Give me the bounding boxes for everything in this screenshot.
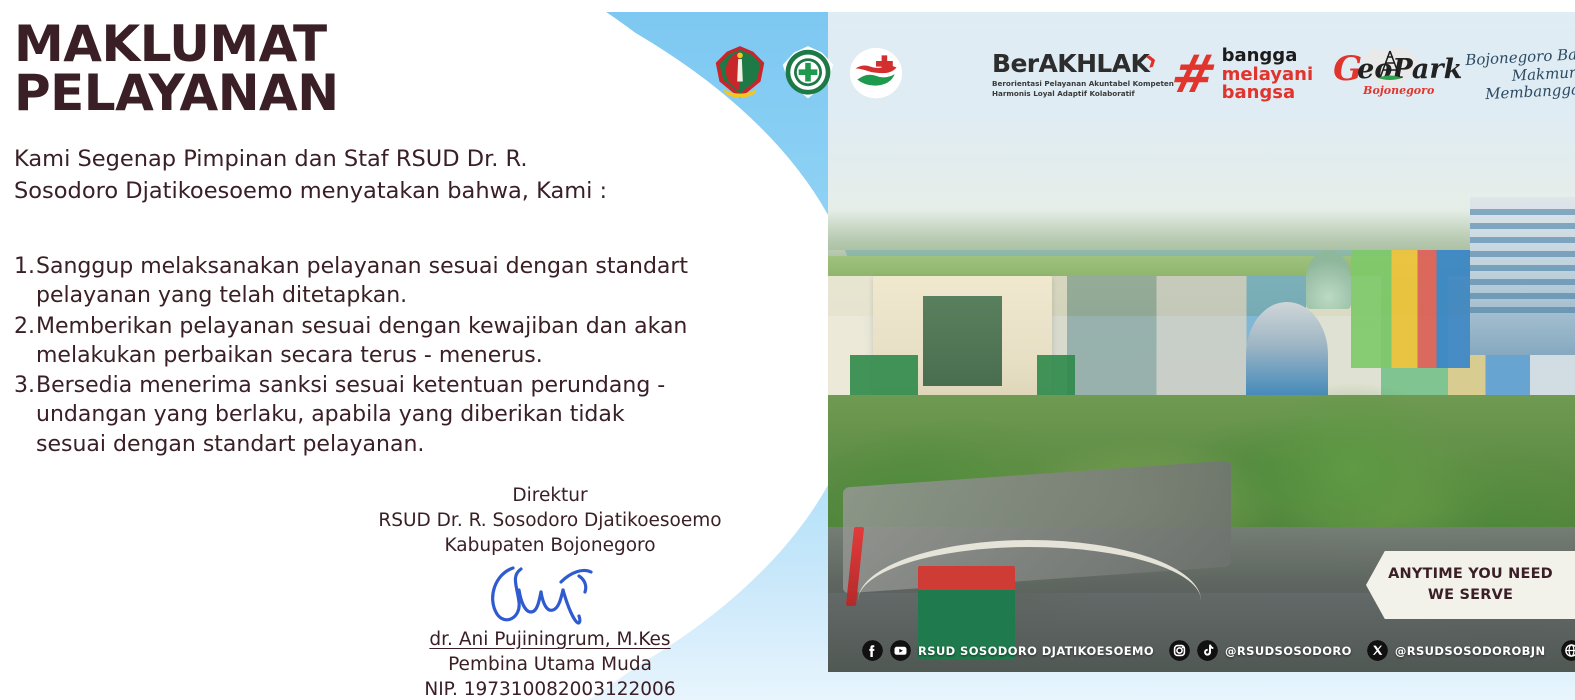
indonesia-health-seal-icon [848, 44, 904, 106]
pledge-list: 1. Sanggup melaksanakan pelayanan sesuai… [14, 252, 694, 460]
website-globe-icon[interactable] [1561, 640, 1575, 661]
social-media-bar: RSUD SOSODORO DJATIKOESOEMO @RSUDSOSODOR… [862, 640, 1575, 661]
banner-line-1: ANYTIME YOU NEED [1388, 564, 1553, 585]
oil-derrick-icon [1377, 50, 1403, 80]
title-line-2: PELAYANAN [14, 69, 484, 118]
list-item: 1. Sanggup melaksanakan pelayanan sesuai… [14, 252, 694, 311]
geopark-subtitle: Bojonegoro [1363, 84, 1434, 97]
left-content-panel: MAKLUMAT PELAYANAN Kami Segenap Pimpinan… [0, 0, 500, 700]
list-item-number: 1. [14, 252, 36, 281]
intro-paragraph: Kami Segenap Pimpinan dan Staf RSUD Dr. … [14, 144, 614, 208]
bangga-line-3: bangsa [1222, 84, 1314, 102]
berakhlak-logo: BerAKHLAK › Berorientasi Pelayanan Akunt… [992, 51, 1152, 99]
facebook-icon[interactable] [862, 640, 883, 661]
banner-line-2: WE SERVE [1428, 585, 1513, 606]
hospital-accreditation-seal-icon [780, 44, 836, 106]
hashtag-icon: # [1168, 55, 1220, 96]
page-title: MAKLUMAT PELAYANAN [14, 20, 484, 118]
bangga-melayani-bangsa-logo: # bangga melayani bangsa [1172, 47, 1313, 102]
geopark-bojonegoro-logo: G eoPark Bojonegoro [1333, 44, 1443, 106]
list-item-text: Sanggup melaksanakan pelayanan sesuai de… [36, 252, 694, 311]
signatory-role: Direktur [330, 484, 770, 509]
signatory-nip: NIP. 197310082003122006 [330, 678, 770, 700]
youtube-handle: RSUD SOSODORO DJATIKOESOEMO [918, 644, 1154, 658]
signatory-regency: Kabupaten Bojonegoro [330, 534, 770, 559]
tiktok-icon[interactable] [1197, 640, 1218, 661]
signatory-rank: Pembina Utama Muda [330, 653, 770, 678]
list-item: 2. Memberikan pelayanan sesuai dengan ke… [14, 312, 694, 371]
x-twitter-handle: @RSUDSOSODOROBJN [1395, 644, 1546, 658]
bojonegoro-tagline: Bojonegoro Bahagia, Makmur, Membanggakan [1462, 44, 1575, 106]
tiktok-handle: @RSUDSOSODORO [1225, 644, 1352, 658]
title-line-1: MAKLUMAT [14, 20, 484, 69]
list-item-number: 2. [14, 312, 36, 341]
list-item-number: 3. [14, 371, 36, 400]
list-item: 3. Bersedia menerima sanksi sesuai keten… [14, 371, 694, 459]
list-item-text: Bersedia menerima sanksi sesuai ketentua… [36, 371, 694, 459]
list-item-text: Memberikan pelayanan sesuai dengan kewaj… [36, 312, 694, 371]
instagram-icon[interactable] [1169, 640, 1190, 661]
signature-block: Direktur RSUD Dr. R. Sosodoro Djatikoeso… [330, 484, 770, 700]
brand-logo-row: BerAKHLAK › Berorientasi Pelayanan Akunt… [992, 44, 1575, 106]
berakhlak-main: AKHLAK [1039, 49, 1150, 78]
service-slogan-banner: ANYTIME YOU NEED WE SERVE [1366, 551, 1575, 619]
x-twitter-icon[interactable] [1367, 640, 1388, 661]
berakhlak-tagline-2: Harmonis Loyal Adaptif Kolaboratif [992, 89, 1152, 99]
signatory-institution: RSUD Dr. R. Sosodoro Djatikoesoemo [330, 509, 770, 534]
institutional-seals [712, 44, 904, 106]
geopark-rest: eoPark [1357, 56, 1462, 83]
berakhlak-prefix: Ber [992, 49, 1039, 78]
signatory-name: dr. Ani Pujiningrum, M.Kes [330, 628, 770, 653]
poster-canvas: MAKLUMAT PELAYANAN Kami Segenap Pimpinan… [0, 0, 1575, 700]
handwritten-signature [475, 560, 625, 632]
berakhlak-tagline-1: Berorientasi Pelayanan Akuntabel Kompete… [992, 79, 1152, 89]
youtube-icon[interactable] [890, 640, 911, 661]
bojonegoro-regency-seal-icon [712, 44, 768, 106]
